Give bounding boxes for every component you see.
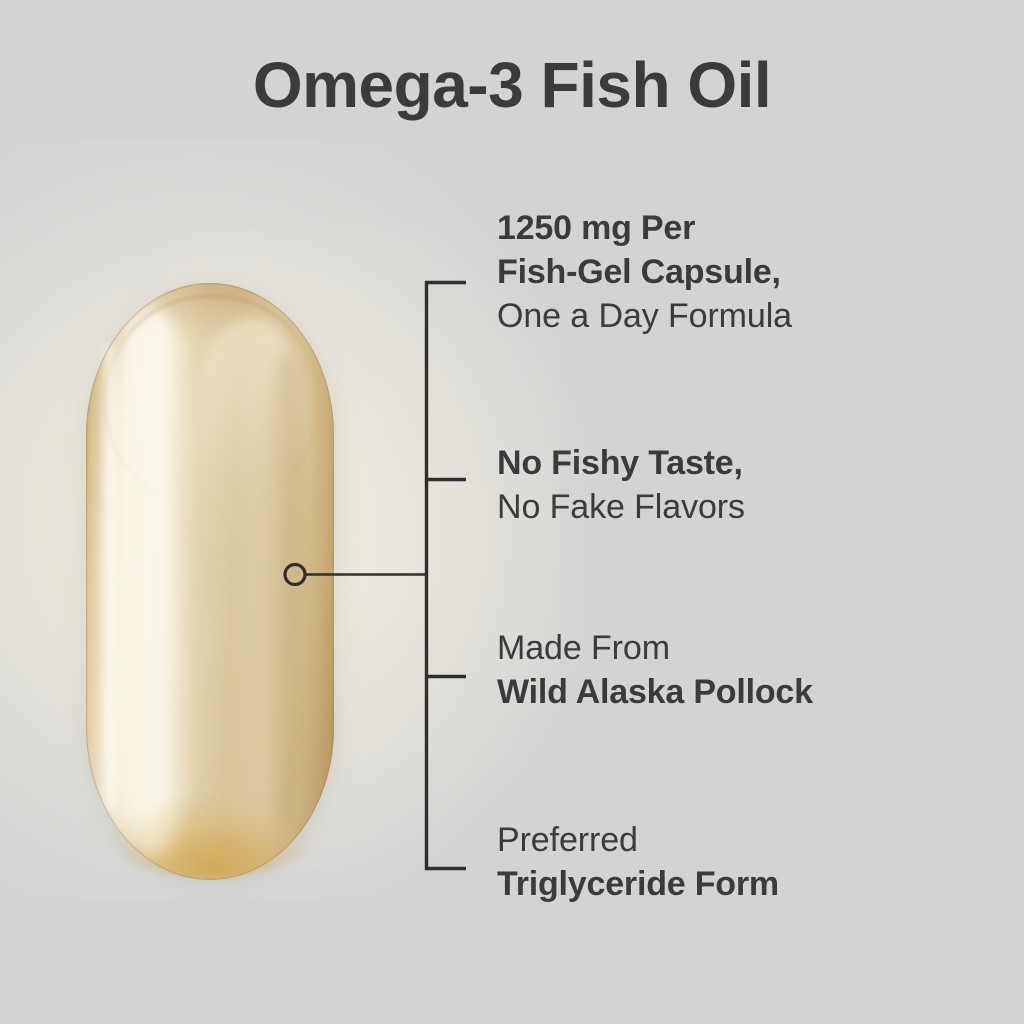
feature-form: Preferred Triglyceride Form: [497, 818, 779, 906]
feature-line: One a Day Formula: [497, 294, 792, 338]
feature-line: 1250 mg Per: [497, 206, 792, 250]
feature-taste: No Fishy Taste, No Fake Flavors: [497, 441, 745, 529]
feature-line: Fish-Gel Capsule,: [497, 250, 792, 294]
feature-line: Made From: [497, 626, 813, 670]
capsule-marker-icon: [285, 565, 305, 585]
feature-line: No Fishy Taste,: [497, 441, 745, 485]
feature-source: Made From Wild Alaska Pollock: [497, 626, 813, 714]
feature-line: Preferred: [497, 818, 779, 862]
feature-line: No Fake Flavors: [497, 485, 745, 529]
product-infographic: Omega-3 Fish Oil 1250 mg Per Fish-Gel Ca…: [0, 0, 1024, 1024]
feature-line: Triglyceride Form: [497, 862, 779, 906]
feature-line: Wild Alaska Pollock: [497, 670, 813, 714]
feature-dosage: 1250 mg Per Fish-Gel Capsule, One a Day …: [497, 206, 792, 339]
